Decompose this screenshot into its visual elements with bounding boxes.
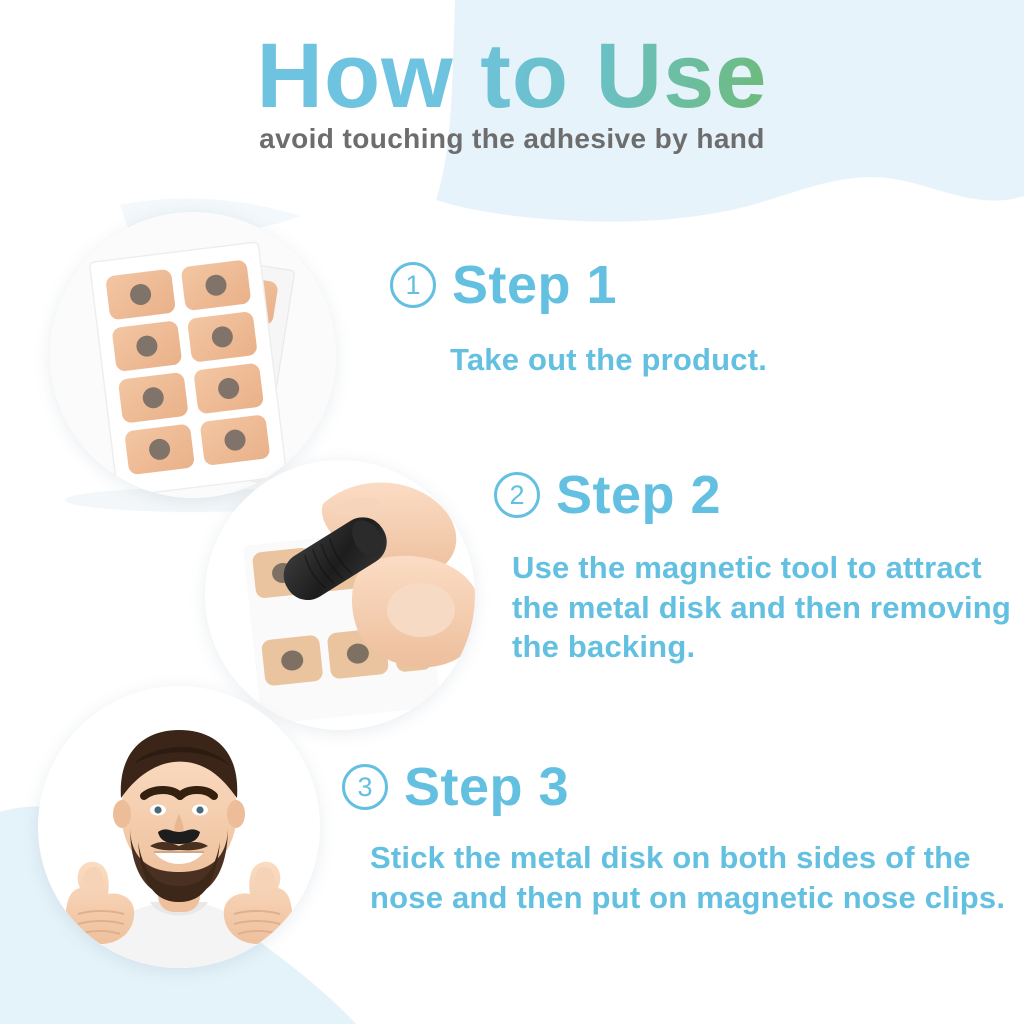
step-1-title: Step 1 <box>452 258 617 312</box>
header: How to Use avoid touching the adhesive b… <box>0 0 1024 175</box>
step-2: 2 Step 2 Use the magnetic tool to attrac… <box>494 468 1012 667</box>
step-2-description: Use the magnetic tool to attract the met… <box>512 548 1012 667</box>
step-1: 1 Step 1 Take out the product. <box>390 258 767 380</box>
step-3-title: Step 3 <box>404 760 569 814</box>
infographic-canvas: How to Use avoid touching the adhesive b… <box>0 0 1024 1024</box>
step-2-title: Step 2 <box>556 468 721 522</box>
page-subtitle: avoid touching the adhesive by hand <box>0 123 1024 155</box>
step-3-photo <box>38 686 320 968</box>
step-1-description: Take out the product. <box>450 340 767 380</box>
step-2-heading: 2 Step 2 <box>494 468 1012 522</box>
step-2-number-icon: 2 <box>494 472 540 518</box>
step-3: 3 Step 3 Stick the metal disk on both si… <box>342 760 1010 917</box>
step-3-heading: 3 Step 3 <box>342 760 1010 814</box>
step-3-number-icon: 3 <box>342 764 388 810</box>
man-thumbs-up-illustration <box>38 686 320 968</box>
magnetic-tool-illustration <box>205 460 475 730</box>
step-2-photo <box>205 460 475 730</box>
product-sheets-illustration <box>50 212 336 498</box>
step-1-heading: 1 Step 1 <box>390 258 767 312</box>
step-1-number-icon: 1 <box>390 262 436 308</box>
step-1-photo <box>50 212 336 498</box>
step-3-description: Stick the metal disk on both sides of th… <box>370 838 1010 917</box>
page-title: How to Use <box>0 30 1024 122</box>
